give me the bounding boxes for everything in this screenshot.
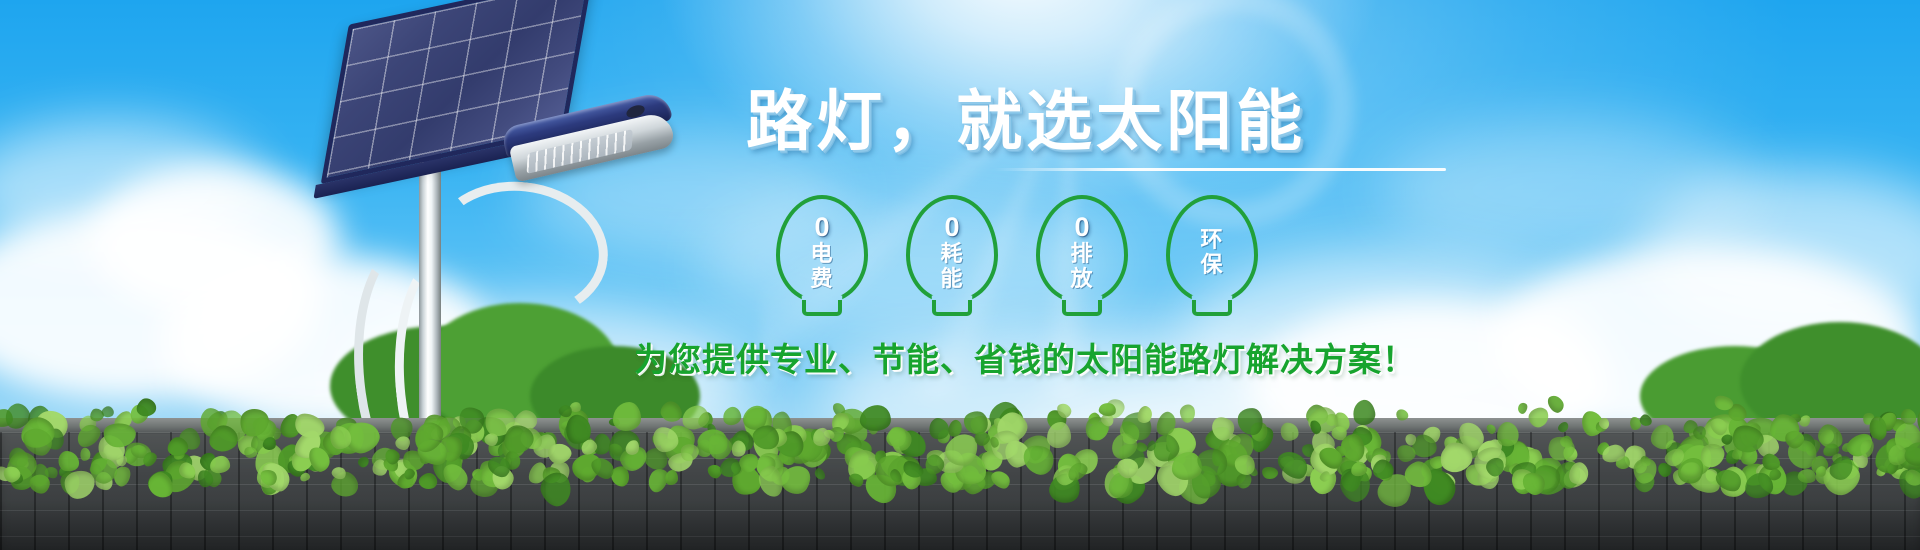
feature-bulb-content: 环保 (1166, 195, 1258, 303)
headline-divider (994, 168, 1446, 171)
tiled-wall (0, 418, 1920, 550)
feature-label: 放 (1070, 267, 1093, 291)
feature-label: 排 (1070, 242, 1093, 266)
feature-bulb: 0耗能 (906, 195, 998, 303)
feature-value: 0 (814, 214, 829, 241)
feature-bulb: 0排放 (1036, 195, 1128, 303)
feature-bulb: 0电费 (776, 195, 868, 303)
solar-street-light-banner: 路灯，就选太阳能 0电费0耗能0排放环保 为您提供专业、节能、省钱的太阳能路灯解… (0, 0, 1920, 550)
feature-bulb-content: 0耗能 (906, 195, 998, 303)
feature-label: 电 (810, 242, 833, 266)
feature-list: 0电费0耗能0排放环保 (776, 195, 1466, 303)
feature-label: 费 (810, 267, 833, 291)
feature-label: 环 (1200, 228, 1223, 252)
feature-bulb-content: 0电费 (776, 195, 868, 303)
tagline: 为您提供专业、节能、省钱的太阳能路灯解决方案！ (634, 333, 1466, 381)
feature-label: 耗 (940, 242, 963, 266)
banner-copy: 路灯，就选太阳能 0电费0耗能0排放环保 为您提供专业、节能、省钱的太阳能路灯解… (746, 88, 1466, 381)
wall-shadow (0, 500, 1920, 550)
feature-bulb: 环保 (1166, 195, 1258, 303)
feature-bulb-content: 0排放 (1036, 195, 1128, 303)
feature-label: 保 (1200, 253, 1223, 277)
page-title: 路灯，就选太阳能 (746, 88, 1466, 154)
feature-value: 0 (1074, 214, 1089, 241)
feature-label: 能 (940, 267, 963, 291)
feature-value: 0 (944, 214, 959, 241)
